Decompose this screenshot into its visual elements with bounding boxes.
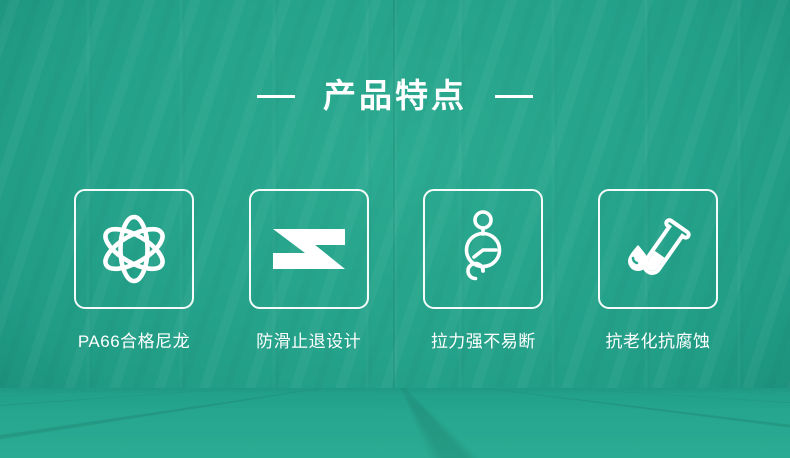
page-title: 产品特点 — [323, 76, 467, 116]
title-right-dash-icon — [495, 95, 533, 98]
page-title-row: 产品特点 — [0, 76, 790, 116]
feature-item-anti-aging: 抗老化抗腐蚀 — [598, 189, 718, 353]
feature-card-tensile-strength[interactable] — [423, 189, 543, 309]
feature-card-anti-aging[interactable] — [598, 189, 718, 309]
feature-label-pa66-nylon: PA66合格尼龙 — [78, 331, 190, 353]
hanging-scale-icon — [441, 207, 525, 291]
atom-icon — [92, 207, 176, 291]
feature-label-tensile-strength: 拉力强不易断 — [431, 331, 536, 353]
feature-label-anti-aging: 抗老化抗腐蚀 — [605, 331, 710, 353]
floor-horizon-fade — [0, 388, 790, 458]
title-left-dash-icon — [257, 95, 295, 98]
feature-card-pa66-nylon[interactable] — [74, 189, 194, 309]
zigzag-antislip-icon — [267, 207, 351, 291]
feature-list: PA66合格尼龙 防滑止退设计 — [74, 189, 718, 353]
feature-item-anti-slip: 防滑止退设计 — [249, 189, 369, 353]
product-features-banner: 产品特点 PA66合格尼龙 — [0, 0, 790, 458]
feature-item-pa66-nylon: PA66合格尼龙 — [74, 189, 194, 353]
perspective-floor — [0, 388, 790, 458]
feature-label-anti-slip: 防滑止退设计 — [256, 331, 361, 353]
feature-card-anti-slip[interactable] — [249, 189, 369, 309]
feature-item-tensile-strength: 拉力强不易断 — [423, 189, 543, 353]
test-tube-droplet-icon — [616, 207, 700, 291]
